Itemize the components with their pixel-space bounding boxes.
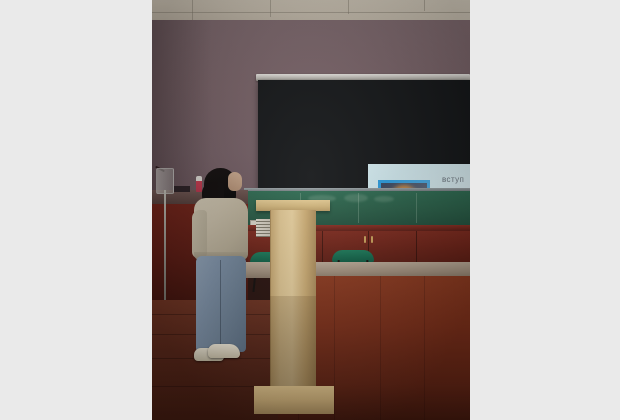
wood-grain [380, 276, 381, 420]
dark-object [174, 186, 190, 192]
cabinet-handle[interactable] [364, 236, 366, 243]
wood-grain [334, 276, 335, 420]
slide-title: вступ [442, 175, 464, 184]
presenter-face [228, 172, 242, 191]
chalk-marks [374, 196, 394, 202]
chalk-marks [344, 194, 368, 202]
screenshot-canvas: вступ Кліматичні зміни є однією з найбіл… [0, 0, 620, 420]
jeans-seam [220, 260, 221, 352]
ceiling-seam [192, 0, 193, 20]
presenter-jeans [196, 256, 246, 352]
ceiling-seam [270, 0, 271, 17]
classroom-photograph: вступ Кліматичні зміни є однією з найбіл… [152, 0, 470, 420]
presenter-shoe [208, 344, 240, 358]
presenter-arm [192, 210, 207, 258]
cabinet-divider [416, 231, 417, 265]
podium-shadow [270, 296, 316, 390]
plastic-bottle[interactable] [196, 176, 202, 192]
wood-grain [424, 276, 425, 420]
cabinet-handle[interactable] [371, 236, 373, 243]
ceiling-seam [152, 12, 470, 13]
ceiling-seam [424, 0, 425, 11]
podium-base [254, 386, 334, 414]
projector-screen-frame: вступ Кліматичні зміни є однією з найбіл… [258, 80, 470, 192]
cabinet-divider [322, 231, 323, 265]
metal-stand-pole [164, 190, 166, 314]
